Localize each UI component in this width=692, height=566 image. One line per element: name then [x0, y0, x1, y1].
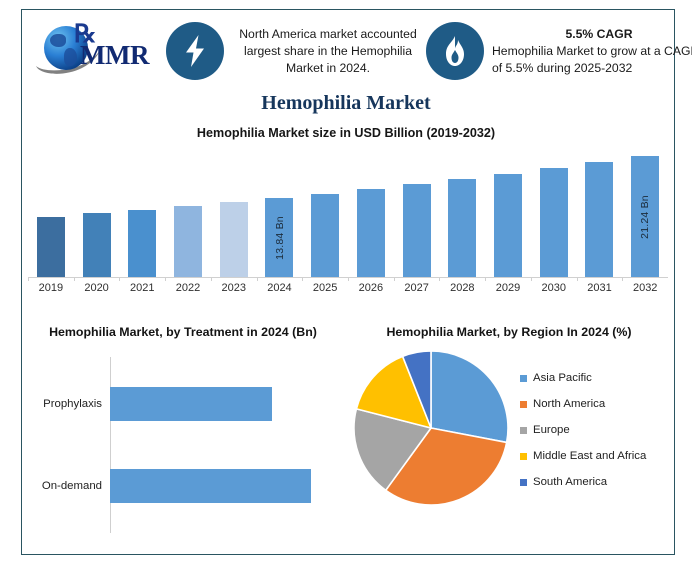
bar-cell — [439, 146, 485, 277]
bar-2026 — [357, 189, 385, 277]
lower-charts-row: Hemophilia Market, by Treatment in 2024 … — [22, 320, 674, 554]
bar-value-label: 21.24 Bn — [639, 195, 651, 239]
legend-item-asia-pacific[interactable]: Asia Pacific — [520, 365, 670, 391]
treatment-axis-line — [110, 357, 111, 533]
legend-label: Europe — [533, 424, 570, 436]
cagr-note-block: 5.5% CAGR Hemophilia Market to grow at a… — [492, 26, 692, 77]
bar-2027 — [403, 184, 431, 277]
bar-2028 — [448, 179, 476, 277]
bar-2023 — [220, 202, 248, 277]
bar-2019 — [37, 217, 65, 277]
bar-cell — [74, 146, 120, 277]
treatment-chart-title: Hemophilia Market, by Treatment in 2024 … — [22, 320, 344, 341]
legend-swatch — [520, 375, 527, 382]
legend-swatch — [520, 401, 527, 408]
x-tick-2021: 2021 — [119, 277, 165, 298]
bar-plot-area: 13.84 Bn21.24 Bn — [28, 146, 668, 278]
bar-cell — [531, 146, 577, 277]
legend-label: Asia Pacific — [533, 372, 592, 384]
bar-cell — [302, 146, 348, 277]
treatment-bar-0 — [110, 387, 272, 421]
x-tick-2024: 2024 — [257, 277, 303, 298]
bar-cell — [394, 146, 440, 277]
region-pie-chart — [352, 349, 510, 507]
treatment-row-ondemand: On-demand — [22, 469, 344, 503]
legend-item-north-america[interactable]: North America — [520, 391, 670, 417]
header-bar: ℞ MMR North America market accounted lar… — [22, 10, 674, 92]
bar-cell — [348, 146, 394, 277]
x-tick-2019: 2019 — [28, 277, 74, 298]
legend-item-europe[interactable]: Europe — [520, 417, 670, 443]
bar-cell — [28, 146, 74, 277]
bar-2021 — [128, 210, 156, 277]
legend-label: South America — [533, 476, 607, 488]
legend-swatch — [520, 453, 527, 460]
cagr-headline: 5.5% CAGR — [492, 26, 692, 43]
treatment-track-1 — [110, 469, 344, 503]
bar-cell — [119, 146, 165, 277]
bar-cell — [485, 146, 531, 277]
bar-cell — [211, 146, 257, 277]
bar-value-label: 13.84 Bn — [273, 216, 285, 260]
treatment-label-1: On-demand — [22, 480, 106, 492]
bar-cell — [577, 146, 623, 277]
bar-x-axis: 2019202020212022202320242025202620272028… — [28, 277, 668, 298]
bar-2024: 13.84 Bn — [265, 198, 293, 277]
bar-2022 — [174, 206, 202, 277]
treatment-row-prophylaxis: Prophylaxis — [22, 387, 344, 421]
flame-icon — [442, 35, 468, 67]
bar-2020 — [83, 213, 111, 277]
x-tick-2028: 2028 — [439, 277, 485, 298]
region-chart-panel: Hemophilia Market, by Region In 2024 (%)… — [344, 320, 674, 554]
bar-cell: 21.24 Bn — [622, 146, 668, 277]
infographic-canvas: ℞ MMR North America market accounted lar… — [0, 0, 692, 566]
legend-swatch — [520, 479, 527, 486]
x-tick-2031: 2031 — [577, 277, 623, 298]
legend-item-south-america[interactable]: South America — [520, 469, 670, 495]
x-tick-2030: 2030 — [531, 277, 577, 298]
treatment-label-0: Prophylaxis — [22, 398, 106, 410]
x-tick-2027: 2027 — [394, 277, 440, 298]
x-tick-2022: 2022 — [165, 277, 211, 298]
cagr-description: Hemophilia Market to grow at a CAGR of 5… — [492, 44, 692, 75]
north-america-note: North America market accounted largest s… — [230, 26, 426, 77]
legend-label: North America — [533, 398, 605, 410]
lightning-bolt-icon — [180, 34, 210, 68]
bar-cell: 13.84 Bn — [257, 146, 303, 277]
bar-chart-title: Hemophilia Market size in USD Billion (2… — [0, 126, 692, 140]
bar-2025 — [311, 194, 339, 277]
legend-label: Middle East and Africa — [533, 450, 646, 462]
x-tick-2026: 2026 — [348, 277, 394, 298]
region-chart-title: Hemophilia Market, by Region In 2024 (%) — [344, 320, 674, 341]
mmr-logo[interactable]: ℞ MMR — [26, 16, 166, 86]
x-tick-2032: 2032 — [622, 277, 668, 298]
pie-slice-asia-pacific — [431, 351, 508, 442]
x-tick-2025: 2025 — [302, 277, 348, 298]
bar-2029 — [494, 174, 522, 277]
treatment-bar-1 — [110, 469, 311, 503]
legend-item-middle-east-and-africa[interactable]: Middle East and Africa — [520, 443, 670, 469]
logo-wordmark: MMR — [80, 42, 149, 69]
bar-cell — [165, 146, 211, 277]
x-tick-2023: 2023 — [211, 277, 257, 298]
treatment-track-0 — [110, 387, 344, 421]
region-legend: Asia PacificNorth AmericaEuropeMiddle Ea… — [520, 365, 670, 495]
bar-2032: 21.24 Bn — [631, 156, 659, 277]
x-tick-2029: 2029 — [485, 277, 531, 298]
market-size-bar-chart: 13.84 Bn21.24 Bn 20192020202120222023202… — [28, 146, 668, 298]
bar-2030 — [540, 168, 568, 277]
legend-swatch — [520, 427, 527, 434]
bar-2031 — [585, 162, 613, 277]
lightning-bolt-badge — [166, 22, 224, 80]
page-title: Hemophilia Market — [0, 92, 692, 115]
x-tick-2020: 2020 — [74, 277, 120, 298]
region-plot-area: Asia PacificNorth AmericaEuropeMiddle Ea… — [344, 345, 674, 535]
flame-badge — [426, 22, 484, 80]
treatment-chart-panel: Hemophilia Market, by Treatment in 2024 … — [22, 320, 344, 554]
pie-svg — [352, 349, 510, 507]
treatment-plot-area: Prophylaxis On-demand — [22, 351, 344, 537]
